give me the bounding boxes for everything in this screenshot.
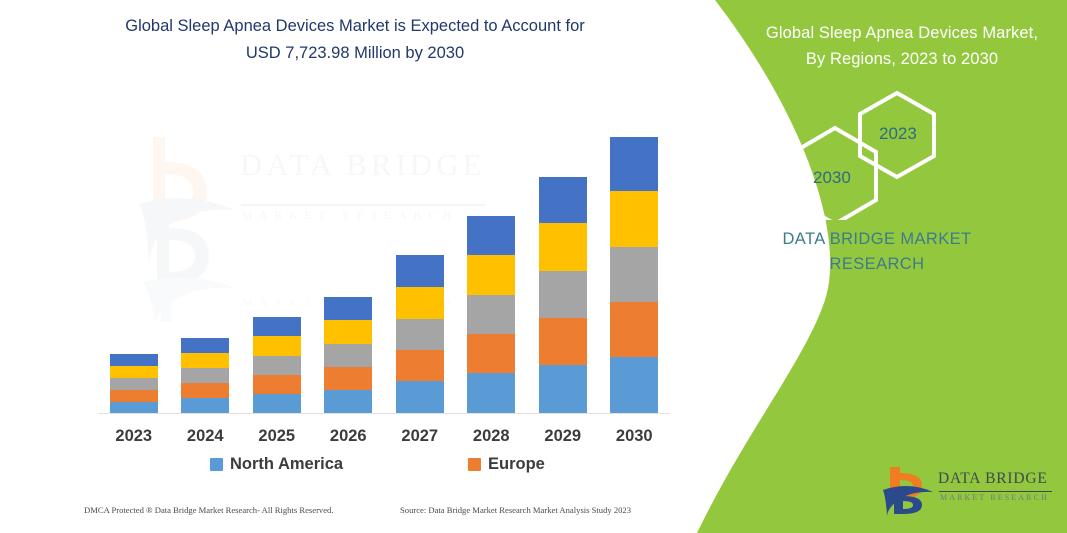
x-axis-label: 2024 (170, 427, 240, 446)
bar-segment[interactable] (539, 271, 587, 318)
bar-segment[interactable] (110, 378, 158, 390)
bar-segment[interactable] (324, 297, 372, 320)
bar-segment[interactable] (610, 302, 658, 357)
side-panel-title: Global Sleep Apnea Devices Market, By Re… (747, 20, 1057, 72)
bar-segment[interactable] (396, 319, 444, 350)
bar-column[interactable] (396, 255, 444, 414)
page-title: Global Sleep Apnea Devices Market is Exp… (60, 13, 650, 67)
side-panel-content: Global Sleep Apnea Devices Market, By Re… (687, 0, 1067, 533)
bar-segment[interactable] (610, 247, 658, 302)
bar-column[interactable] (539, 177, 587, 414)
x-axis-labels: 20232024202520262027202820292030 (98, 427, 670, 451)
legend-label-north-america: North America (230, 455, 343, 474)
footer-source: Source: Data Bridge Market Research Mark… (400, 505, 631, 515)
side-panel-brand-line-2: RESEARCH (717, 255, 1037, 274)
bar-column[interactable] (181, 338, 229, 414)
bar-segment[interactable] (467, 216, 515, 255)
page-title-line-1: Global Sleep Apnea Devices Market is Exp… (60, 13, 650, 40)
footer: DMCA Protected ® Data Bridge Market Rese… (0, 505, 700, 527)
brand-logo: DATA BRIDGE MARKET RESEARCH (882, 462, 1062, 518)
page-title-line-2: USD 7,723.98 Million by 2030 (60, 40, 650, 67)
bar-segment[interactable] (467, 334, 515, 373)
bar-segment[interactable] (253, 336, 301, 356)
bar-segment[interactable] (110, 354, 158, 366)
bar-segment[interactable] (110, 390, 158, 402)
side-panel-brand-line-1: DATA BRIDGE MARKET (717, 230, 1037, 249)
side-panel: Global Sleep Apnea Devices Market, By Re… (687, 0, 1067, 533)
x-axis-label: 2025 (242, 427, 312, 446)
bar-segment[interactable] (396, 381, 444, 414)
bar-segment[interactable] (324, 367, 372, 390)
stacked-bar-plot (98, 110, 670, 414)
hexagon-label-2023: 2023 (879, 124, 917, 144)
bar-segment[interactable] (181, 383, 229, 398)
bar-segment[interactable] (181, 368, 229, 383)
x-axis-label: 2030 (599, 427, 669, 446)
logo-subtitle: MARKET RESEARCH (940, 493, 1049, 502)
bar-column[interactable] (610, 137, 658, 414)
bar-segment[interactable] (324, 320, 372, 344)
bar-segment[interactable] (396, 350, 444, 381)
bar-segment[interactable] (539, 365, 587, 414)
bar-segment[interactable] (396, 255, 444, 287)
bar-column[interactable] (467, 216, 515, 414)
bar-segment[interactable] (610, 191, 658, 247)
legend-item-north-america[interactable]: North America (210, 455, 343, 474)
legend-swatch-north-america (210, 458, 223, 471)
x-axis-label: 2027 (385, 427, 455, 446)
bar-segment[interactable] (324, 390, 372, 414)
x-axis-line (98, 413, 670, 414)
side-panel-title-line-2: By Regions, 2023 to 2030 (747, 46, 1057, 72)
bar-segment[interactable] (467, 373, 515, 414)
bar-segment[interactable] (539, 223, 587, 271)
x-axis-label: 2029 (528, 427, 598, 446)
chart-panel: Global Sleep Apnea Devices Market is Exp… (0, 0, 710, 533)
bar-segment[interactable] (181, 398, 229, 414)
logo-title: DATA BRIDGE (938, 470, 1048, 488)
data-bridge-logo-icon (882, 464, 934, 516)
footer-copyright: DMCA Protected ® Data Bridge Market Rese… (84, 505, 334, 515)
bar-column[interactable] (253, 317, 301, 414)
bar-column[interactable] (110, 354, 158, 414)
bar-segment[interactable] (610, 137, 658, 191)
bar-segment[interactable] (324, 344, 372, 367)
hexagon-label-2030: 2030 (813, 168, 851, 188)
bar-segment[interactable] (181, 353, 229, 368)
logo-divider (939, 491, 1052, 492)
bar-segment[interactable] (253, 394, 301, 414)
bar-column[interactable] (324, 297, 372, 414)
bar-segment[interactable] (253, 356, 301, 375)
bar-segment[interactable] (253, 375, 301, 394)
bar-segment[interactable] (467, 295, 515, 334)
x-axis-label: 2023 (99, 427, 169, 446)
chart-legend: North America Europe (98, 455, 670, 481)
x-axis-label: 2026 (313, 427, 383, 446)
bar-segment[interactable] (610, 357, 658, 414)
bar-segment[interactable] (539, 177, 587, 223)
bar-segment[interactable] (110, 366, 158, 378)
bar-segment[interactable] (539, 318, 587, 365)
x-axis-label: 2028 (456, 427, 526, 446)
hexagon-shapes-icon (687, 90, 1067, 220)
legend-swatch-europe (468, 458, 481, 471)
hexagon-group: 2023 2030 (687, 90, 1067, 210)
legend-label-europe: Europe (488, 455, 545, 474)
legend-item-europe[interactable]: Europe (468, 455, 545, 474)
bar-segment[interactable] (253, 317, 301, 336)
bar-segment[interactable] (396, 287, 444, 319)
bar-segment[interactable] (181, 338, 229, 353)
infographic-root: Global Sleep Apnea Devices Market is Exp… (0, 0, 1067, 533)
bar-segment[interactable] (467, 255, 515, 295)
side-panel-title-line-1: Global Sleep Apnea Devices Market, (747, 20, 1057, 46)
